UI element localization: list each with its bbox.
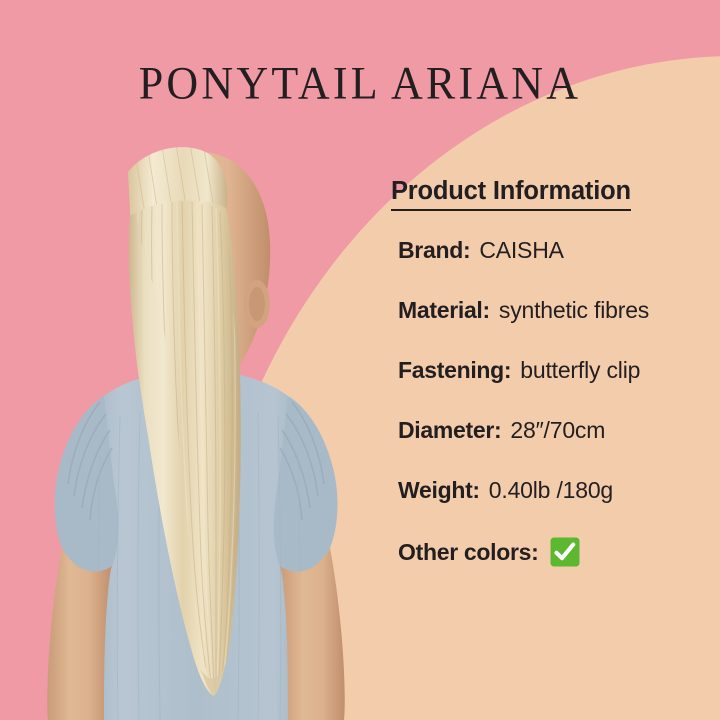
model-photo [0, 96, 400, 720]
spec-label-brand: Brand: [398, 237, 470, 264]
spec-label-weight: Weight: [398, 477, 480, 504]
green-check-icon [550, 537, 580, 567]
spec-list: Brand: CAISHA Material: synthetic fibres… [391, 237, 711, 567]
spec-value-diameter: 28″/70cm [510, 417, 605, 444]
spec-value-weight: 0.40lb /180g [489, 477, 613, 504]
product-information-panel: Product Information Brand: CAISHA Materi… [391, 176, 711, 567]
product-infographic: PONYTAIL ARIANA [0, 0, 720, 720]
spec-row-material: Material: synthetic fibres [398, 297, 711, 324]
product-information-heading: Product Information [391, 176, 631, 211]
spec-label-other-colors: Other colors: [398, 539, 539, 566]
spec-row-fastening: Fastening: butterfly clip [398, 357, 711, 384]
spec-row-brand: Brand: CAISHA [398, 237, 711, 264]
spec-label-diameter: Diameter: [398, 417, 501, 444]
spec-value-fastening: butterfly clip [520, 357, 640, 384]
spec-value-brand: CAISHA [479, 237, 563, 264]
spec-label-fastening: Fastening: [398, 357, 511, 384]
spec-row-weight: Weight: 0.40lb /180g [398, 477, 711, 504]
spec-row-other-colors: Other colors: [398, 537, 711, 567]
spec-label-material: Material: [398, 297, 490, 324]
spec-value-material: synthetic fibres [499, 297, 649, 324]
spec-row-diameter: Diameter: 28″/70cm [398, 417, 711, 444]
